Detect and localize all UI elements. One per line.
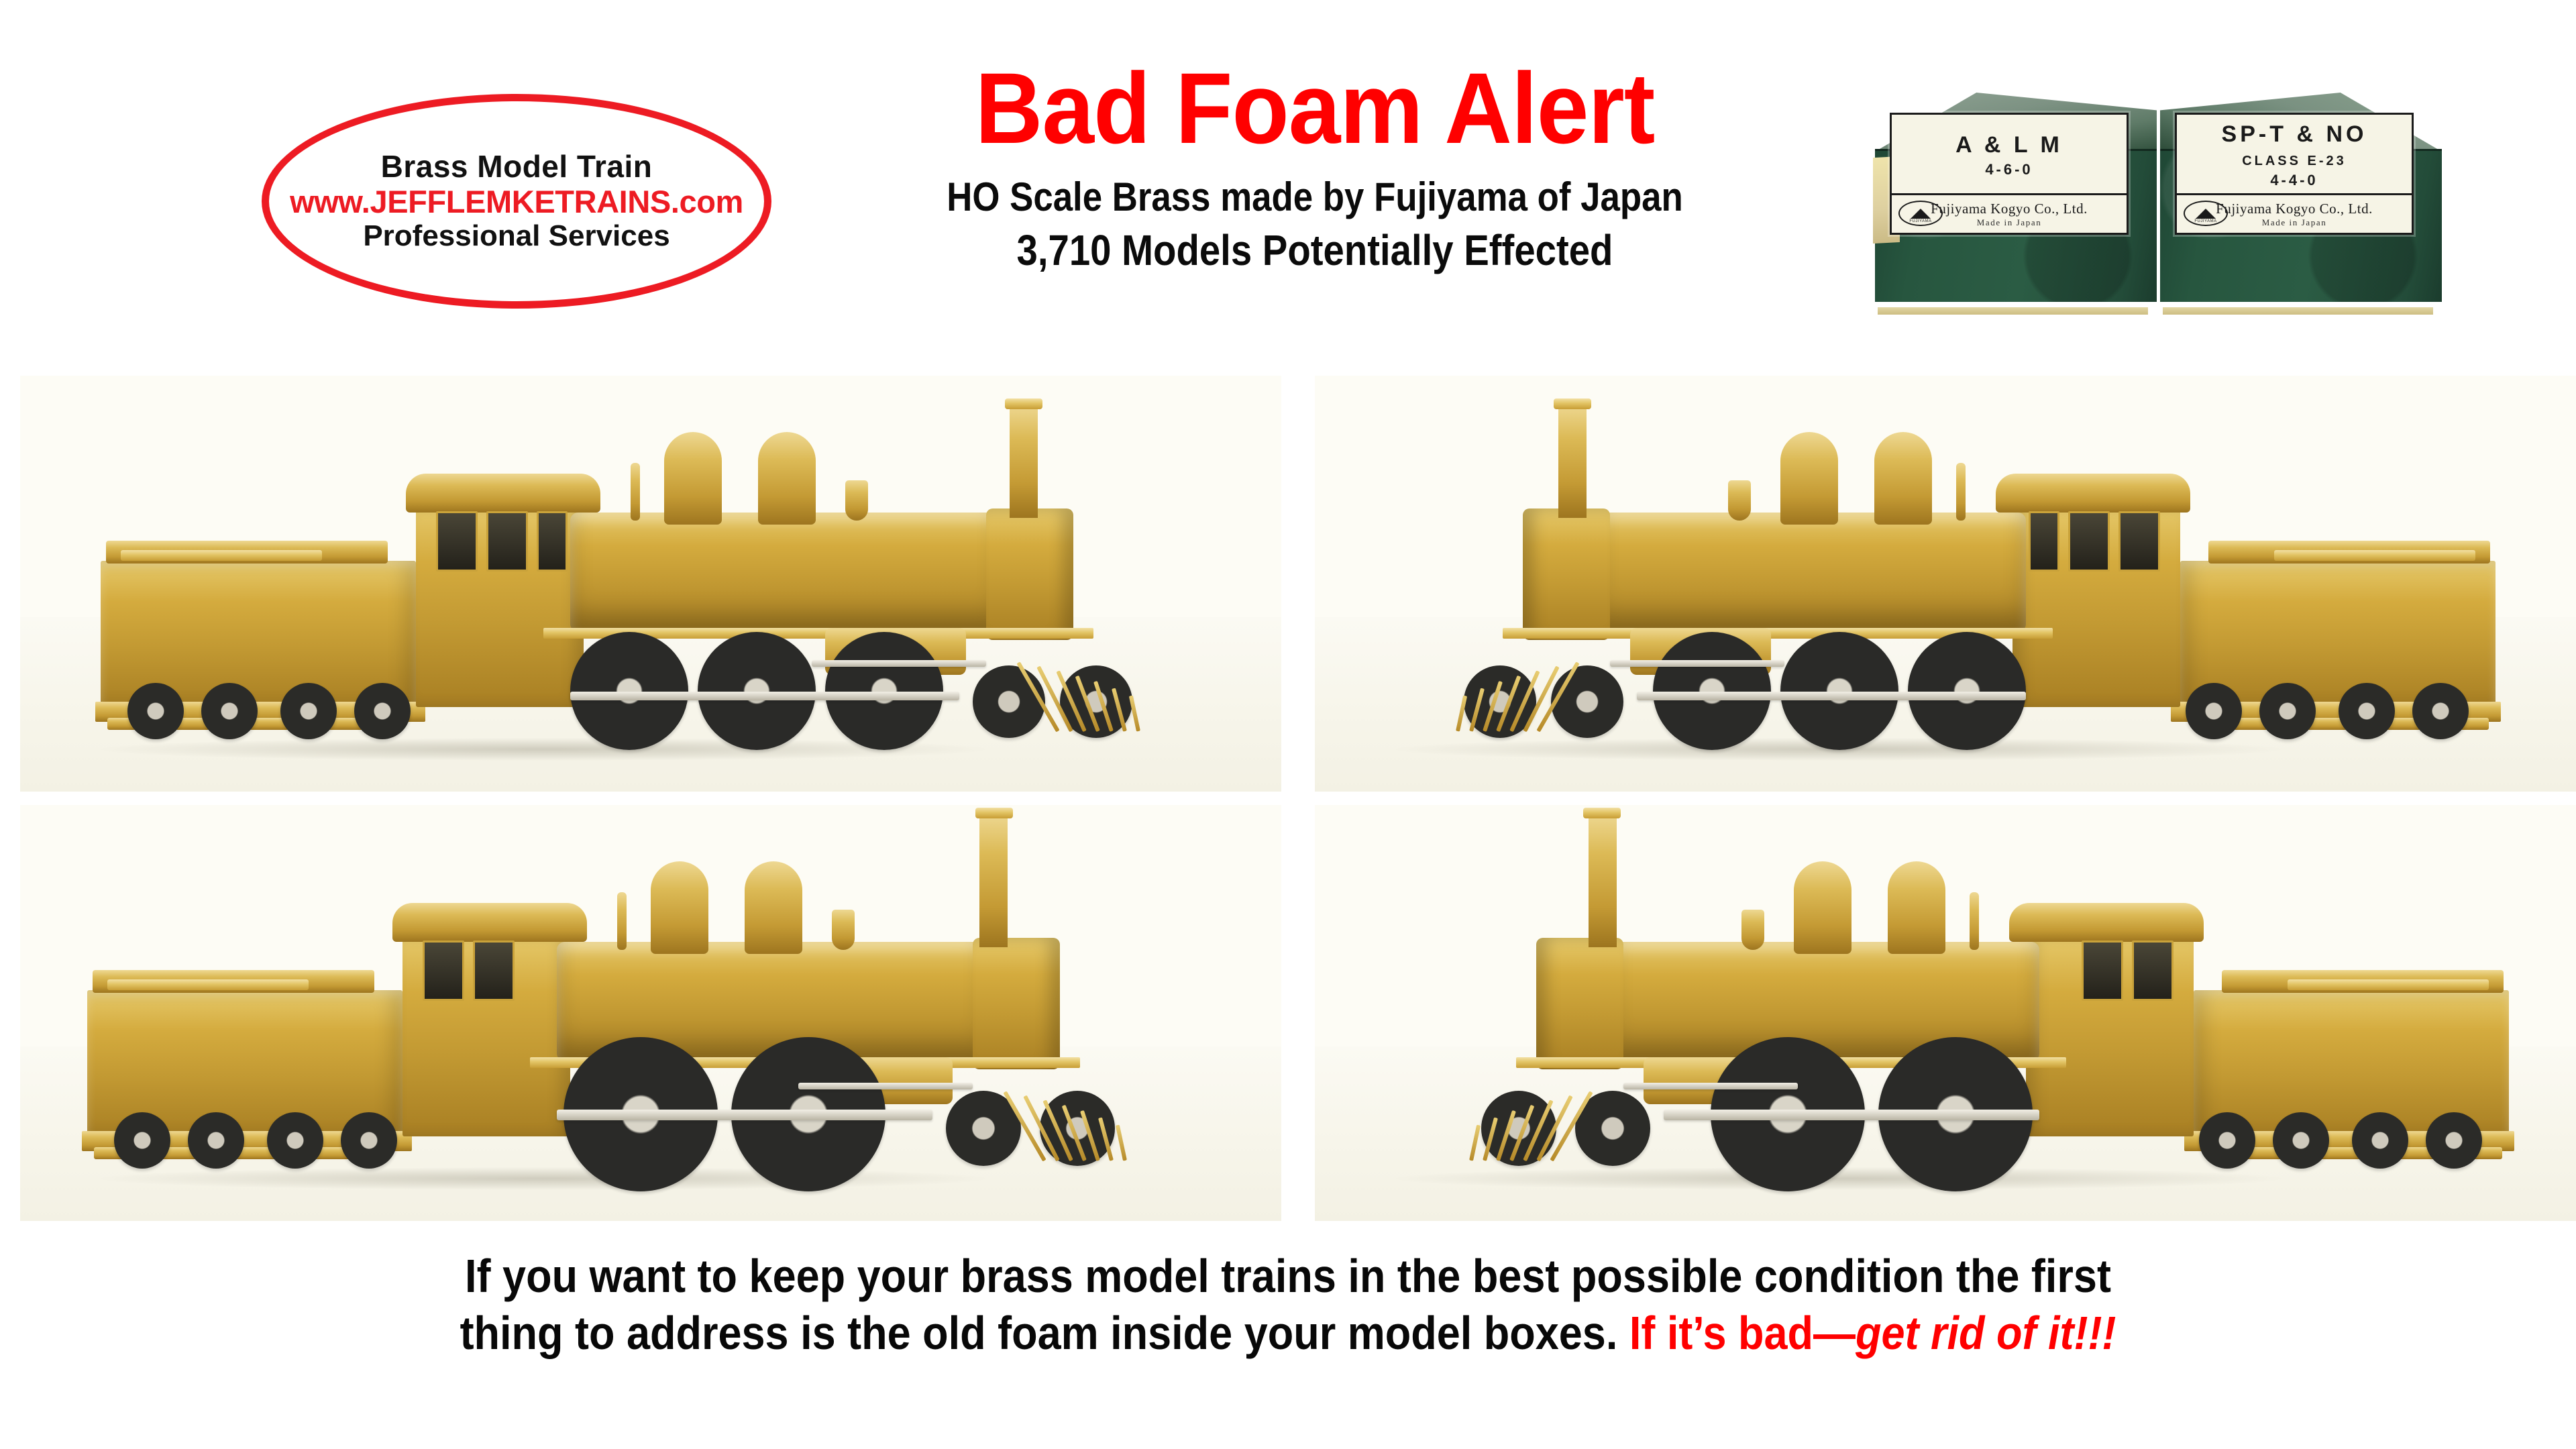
stack-cap bbox=[975, 808, 1013, 818]
cab-window bbox=[486, 511, 528, 572]
stack-cap bbox=[1005, 398, 1042, 409]
footer-line-2-red: If it’s bad— bbox=[1617, 1307, 1856, 1359]
box-label: A & L M 4-6-0 FUJIYAMA Fujiyama Kogyo Co… bbox=[1890, 113, 2129, 235]
model-box-left: A & L M 4-6-0 FUJIYAMA Fujiyama Kogyo Co… bbox=[1875, 93, 2157, 309]
driver-wheel bbox=[1653, 632, 1771, 750]
mountain-icon bbox=[1911, 209, 1931, 219]
smokebox bbox=[973, 938, 1060, 1069]
sand-dome bbox=[1780, 432, 1838, 525]
box-base bbox=[2163, 307, 2433, 315]
bell bbox=[845, 480, 868, 521]
bell bbox=[832, 910, 855, 950]
tender-wheel bbox=[280, 683, 337, 739]
cowcatcher bbox=[1041, 1080, 1148, 1161]
pilot-wheel bbox=[973, 665, 1045, 738]
box-class: CLASS E-23 bbox=[2242, 154, 2347, 168]
whistle bbox=[1970, 892, 1979, 950]
tender-deck bbox=[2288, 979, 2489, 990]
main-rod bbox=[1610, 660, 1784, 667]
logo-line-1: Brass Model Train bbox=[381, 150, 653, 184]
whistle bbox=[617, 892, 627, 950]
box-label-footer: FUJIYAMA Fujiyama Kogyo Co., Ltd. Made i… bbox=[2177, 193, 2412, 233]
locomotive-photo-4 bbox=[1315, 805, 2576, 1221]
tender-wheel bbox=[188, 1112, 244, 1169]
model-box-right: SP-T & NO CLASS E-23 4-4-0 FUJIYAMA Fuji… bbox=[2160, 93, 2442, 309]
tender-wheel bbox=[354, 683, 411, 739]
cowcatcher bbox=[1434, 651, 1542, 731]
driver-wheel bbox=[698, 632, 816, 750]
box-origin: Made in Japan bbox=[2262, 218, 2327, 227]
model-boxes-photo: A & L M 4-6-0 FUJIYAMA Fujiyama Kogyo Co… bbox=[1872, 40, 2449, 309]
tender-wheel bbox=[2259, 683, 2316, 739]
box-base bbox=[1878, 307, 2148, 315]
bell bbox=[1728, 480, 1751, 521]
tender-wheel bbox=[2199, 1112, 2255, 1169]
footer-line-2-black: thing to address is the old foam inside … bbox=[460, 1307, 1618, 1359]
smokestack bbox=[1589, 813, 1617, 947]
cowcatcher bbox=[1448, 1080, 1555, 1161]
title-block: Bad Foam Alert HO Scale Brass made by Fu… bbox=[865, 58, 1764, 274]
main-rod bbox=[812, 660, 986, 667]
page-title: Bad Foam Alert bbox=[897, 58, 1733, 158]
smokebox bbox=[986, 508, 1073, 640]
fujiyama-emblem-icon: FUJIYAMA bbox=[1898, 201, 1943, 226]
main-rod bbox=[798, 1083, 973, 1089]
tender-wheel bbox=[114, 1112, 170, 1169]
steam-dome bbox=[1888, 861, 1945, 954]
emblem-text: FUJIYAMA bbox=[2185, 219, 2226, 223]
fujiyama-emblem-icon: FUJIYAMA bbox=[2184, 201, 2228, 226]
bell bbox=[1741, 910, 1764, 950]
box-wheel-arrangement: 4-4-0 bbox=[2270, 172, 2318, 189]
tender-wheel bbox=[2426, 1112, 2482, 1169]
brass-locomotive-model bbox=[20, 376, 1281, 792]
brass-locomotive-model bbox=[1315, 376, 2576, 792]
model-body bbox=[1436, 820, 2509, 1169]
brass-locomotive-model bbox=[20, 805, 1281, 1221]
tender-wheel bbox=[2412, 683, 2469, 739]
box-label-footer: FUJIYAMA Fujiyama Kogyo Co., Ltd. Made i… bbox=[1892, 193, 2127, 233]
emblem-text: FUJIYAMA bbox=[1900, 219, 1941, 223]
driver-wheel bbox=[1908, 632, 2026, 750]
locomotive-photo-2 bbox=[1315, 376, 2576, 792]
subtitle-scale: HO Scale Brass made by Fujiyama of Japan bbox=[919, 176, 1710, 219]
tender-wheel bbox=[2339, 683, 2395, 739]
cab-window bbox=[423, 941, 464, 1001]
cab-window bbox=[473, 941, 515, 1001]
tender-wheel bbox=[2273, 1112, 2329, 1169]
tender-wheel bbox=[201, 683, 258, 739]
footer-line-2-red-italic: get rid of it!!! bbox=[1856, 1307, 2116, 1359]
poster-header: Brass Model Train www.JEFFLEMKETRAINS.co… bbox=[0, 0, 2576, 315]
mountain-icon bbox=[2196, 209, 2216, 219]
poster-footer: If you want to keep your brass model tra… bbox=[0, 1248, 2576, 1362]
driver-wheel bbox=[825, 632, 943, 750]
cab-window bbox=[2118, 511, 2160, 572]
whistle bbox=[1956, 463, 1966, 521]
tender-wheel bbox=[2186, 683, 2242, 739]
tender-wheel bbox=[267, 1112, 323, 1169]
subtitle-count: 3,710 Models Potentially Effected bbox=[919, 227, 1710, 274]
box-road-name: SP-T & NO bbox=[2222, 122, 2367, 147]
boiler bbox=[1597, 513, 2026, 632]
side-rod bbox=[557, 1110, 932, 1120]
locomotive-photo-1 bbox=[20, 376, 1281, 792]
pilot-wheel bbox=[1551, 665, 1623, 738]
sand-dome bbox=[758, 432, 816, 525]
box-maker: Fujiyama Kogyo Co., Ltd. bbox=[2216, 201, 2373, 216]
cab-window bbox=[2068, 511, 2110, 572]
box-maker: Fujiyama Kogyo Co., Ltd. bbox=[1931, 201, 2088, 216]
smokestack bbox=[1010, 404, 1038, 518]
tender-wheel bbox=[127, 683, 184, 739]
model-body bbox=[87, 820, 1161, 1169]
box-road-name: A & L M bbox=[1955, 133, 2063, 158]
box-wheel-arrangement: 4-6-0 bbox=[1985, 162, 2033, 178]
footer-line-2: thing to address is the old foam inside … bbox=[129, 1305, 2447, 1362]
model-body bbox=[101, 390, 1174, 739]
cab-window bbox=[2082, 941, 2123, 1001]
whistle bbox=[631, 463, 640, 521]
box-label-top: SP-T & NO CLASS E-23 4-4-0 bbox=[2177, 115, 2412, 193]
box-pair: A & L M 4-6-0 FUJIYAMA Fujiyama Kogyo Co… bbox=[1872, 40, 2449, 309]
smokestack bbox=[1558, 404, 1587, 518]
smokebox bbox=[1523, 508, 1610, 640]
logo-website: www.JEFFLEMKETRAINS.com bbox=[290, 184, 743, 220]
box-origin: Made in Japan bbox=[1977, 218, 2042, 227]
cab-roof bbox=[2009, 903, 2204, 942]
steam-dome bbox=[651, 861, 708, 954]
tender-deck bbox=[2274, 550, 2475, 561]
boiler bbox=[570, 513, 1000, 632]
cowcatcher bbox=[1055, 651, 1162, 731]
smokebox bbox=[1536, 938, 1623, 1069]
cab-window bbox=[436, 511, 478, 572]
steam-dome bbox=[664, 432, 722, 525]
footer-line-1: If you want to keep your brass model tra… bbox=[129, 1248, 2447, 1305]
side-rod bbox=[1664, 1110, 2039, 1120]
cab-window bbox=[537, 511, 568, 572]
sand-dome bbox=[1794, 861, 1851, 954]
stack-cap bbox=[1583, 808, 1621, 818]
brass-locomotive-model bbox=[1315, 805, 2576, 1221]
steam-dome bbox=[1874, 432, 1932, 525]
locomotive-photo-3 bbox=[20, 805, 1281, 1221]
box-label: SP-T & NO CLASS E-23 4-4-0 FUJIYAMA Fuji… bbox=[2175, 113, 2414, 235]
driver-wheel bbox=[1780, 632, 1898, 750]
box-label-top: A & L M 4-6-0 bbox=[1892, 115, 2127, 193]
cab-window bbox=[2029, 511, 2059, 572]
tender-deck bbox=[107, 979, 309, 990]
side-rod bbox=[570, 692, 959, 700]
cab-window bbox=[2132, 941, 2173, 1001]
sand-dome bbox=[745, 861, 802, 954]
tender-wheel bbox=[341, 1112, 397, 1169]
smokestack bbox=[979, 813, 1008, 947]
model-body bbox=[1422, 390, 2495, 739]
driver-wheel bbox=[570, 632, 688, 750]
tender-wheel bbox=[2352, 1112, 2408, 1169]
stack-cap bbox=[1554, 398, 1591, 409]
main-rod bbox=[1623, 1083, 1798, 1089]
side-rod bbox=[1637, 692, 2026, 700]
cab-roof bbox=[392, 903, 587, 942]
locomotive-photo-grid bbox=[0, 376, 2576, 1221]
poster-canvas: Brass Model Train www.JEFFLEMKETRAINS.co… bbox=[0, 0, 2576, 1449]
cab-roof bbox=[406, 474, 600, 513]
tender-deck bbox=[121, 550, 322, 561]
company-logo: Brass Model Train www.JEFFLEMKETRAINS.co… bbox=[262, 94, 771, 309]
logo-line-3: Professional Services bbox=[363, 219, 669, 252]
cab-roof bbox=[1996, 474, 2190, 513]
